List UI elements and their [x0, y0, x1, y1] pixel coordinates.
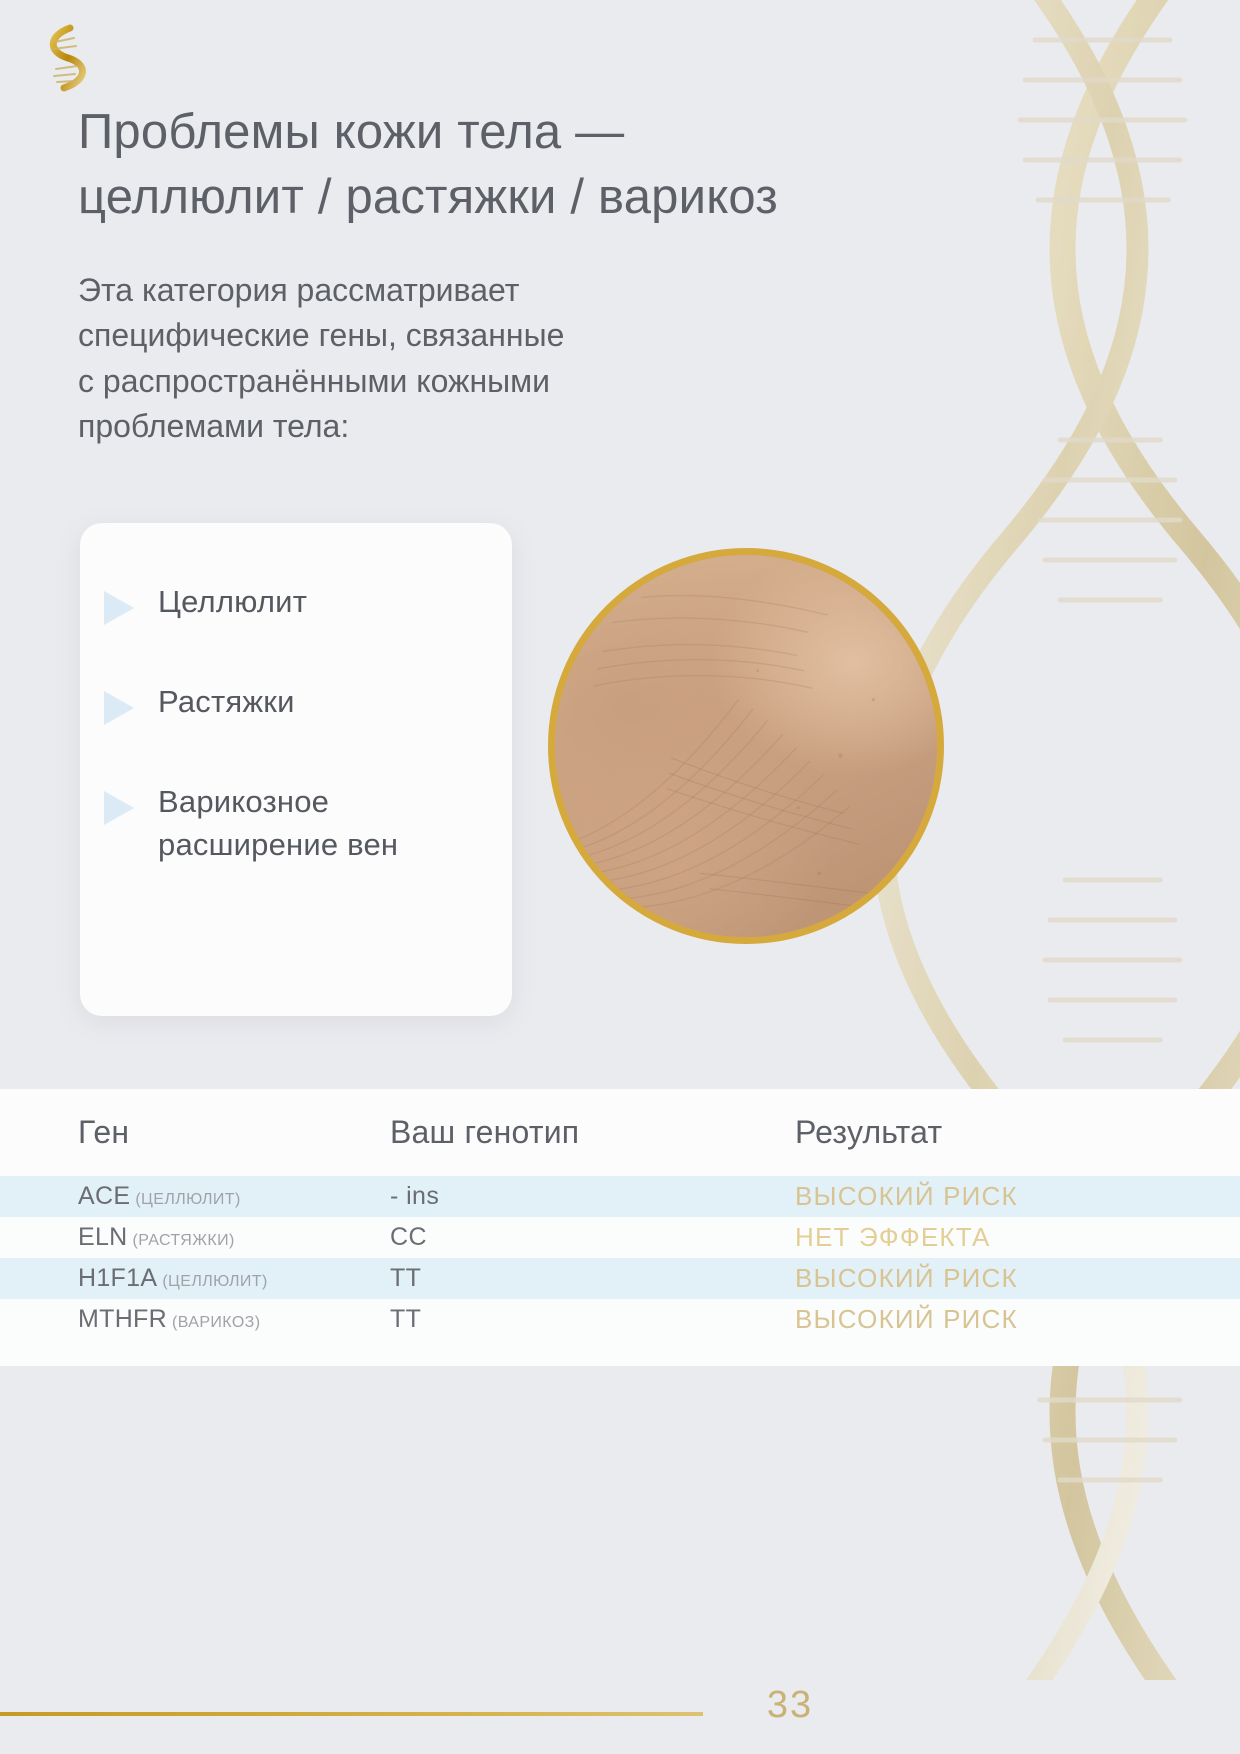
footer-divider	[0, 1712, 703, 1716]
gene-condition-tag: (ЦЕЛЛЮЛИТ)	[162, 1273, 267, 1290]
table-bottom-spacer	[0, 1340, 1240, 1366]
table-row: ACE(ЦЕЛЛЮЛИТ) - ins ВЫСОКИЙ РИСК	[0, 1176, 1240, 1217]
list-item-label: Целлюлит	[158, 581, 307, 624]
gene-symbol: ELN	[78, 1223, 128, 1251]
gene-symbol: ACE	[78, 1182, 130, 1210]
list-item: Растяжки	[80, 681, 512, 725]
list-item: Целлюлит	[80, 581, 512, 625]
cellulite-skin-photo	[548, 548, 944, 944]
cell-genotype: CC	[390, 1223, 795, 1252]
triangle-right-icon	[104, 691, 134, 725]
intro-paragraph: Эта категория рассматривает специфически…	[78, 268, 798, 450]
cell-result: ВЫСОКИЙ РИСК	[795, 1263, 1200, 1294]
cell-genotype: TT	[390, 1264, 795, 1293]
table-row: MTHFR(ВАРИКОЗ) TT ВЫСОКИЙ РИСК	[0, 1299, 1240, 1340]
gene-condition-tag: (РАСТЯЖКИ)	[133, 1232, 235, 1249]
gene-symbol: MTHFR	[78, 1305, 167, 1333]
cell-gene: MTHFR(ВАРИКОЗ)	[78, 1305, 390, 1334]
page-title: Проблемы кожи тела — целлюлит / растяжки…	[78, 100, 958, 229]
table-row: ELN(РАСТЯЖКИ) CC НЕТ ЭФФЕКТА	[0, 1217, 1240, 1258]
cell-gene: ACE(ЦЕЛЛЮЛИТ)	[78, 1182, 390, 1211]
cell-result: ВЫСОКИЙ РИСК	[795, 1304, 1200, 1335]
gene-condition-tag: (ЦЕЛЛЮЛИТ)	[135, 1191, 240, 1208]
list-item-label: Растяжки	[158, 681, 295, 724]
slide-page: Проблемы кожи тела — целлюлит / растяжки…	[0, 0, 1240, 1754]
triangle-right-icon	[104, 591, 134, 625]
genotype-results-table: Ген Ваш генотип Результат ACE(ЦЕЛЛЮЛИТ) …	[0, 1089, 1240, 1366]
column-header-genotype: Ваш генотип	[390, 1114, 795, 1151]
cell-gene: ELN(РАСТЯЖКИ)	[78, 1223, 390, 1252]
intro-line-3: с распространёнными кожными	[78, 359, 798, 404]
triangle-right-icon	[104, 791, 134, 825]
condition-list-card: Целлюлит Растяжки Варикозное расширение …	[80, 523, 512, 1016]
gene-symbol: H1F1A	[78, 1264, 157, 1292]
cell-genotype: - ins	[390, 1182, 795, 1211]
intro-line-2: специфические гены, связанные	[78, 313, 798, 358]
gene-condition-tag: (ВАРИКОЗ)	[172, 1314, 261, 1331]
skin-wrinkle-lines	[555, 555, 937, 937]
cell-result: НЕТ ЭФФЕКТА	[795, 1222, 1200, 1253]
page-title-line2: целлюлит / растяжки / варикоз	[78, 165, 958, 230]
page-title-line1: Проблемы кожи тела —	[78, 100, 958, 165]
page-number: 33	[730, 1684, 850, 1727]
table-row: H1F1A(ЦЕЛЛЮЛИТ) TT ВЫСОКИЙ РИСК	[0, 1258, 1240, 1299]
intro-line-1: Эта категория рассматривает	[78, 268, 798, 313]
table-header-row: Ген Ваш генотип Результат	[0, 1089, 1240, 1176]
list-item-label: Варикозное расширение вен	[158, 781, 486, 867]
list-item: Варикозное расширение вен	[80, 781, 512, 867]
cell-genotype: TT	[390, 1305, 795, 1334]
cell-result: ВЫСОКИЙ РИСК	[795, 1181, 1200, 1212]
intro-line-4: проблемами тела:	[78, 404, 798, 449]
column-header-gene: Ген	[78, 1114, 390, 1151]
dna-helix-icon	[30, 22, 92, 94]
column-header-result: Результат	[795, 1114, 1200, 1151]
cell-gene: H1F1A(ЦЕЛЛЮЛИТ)	[78, 1264, 390, 1293]
